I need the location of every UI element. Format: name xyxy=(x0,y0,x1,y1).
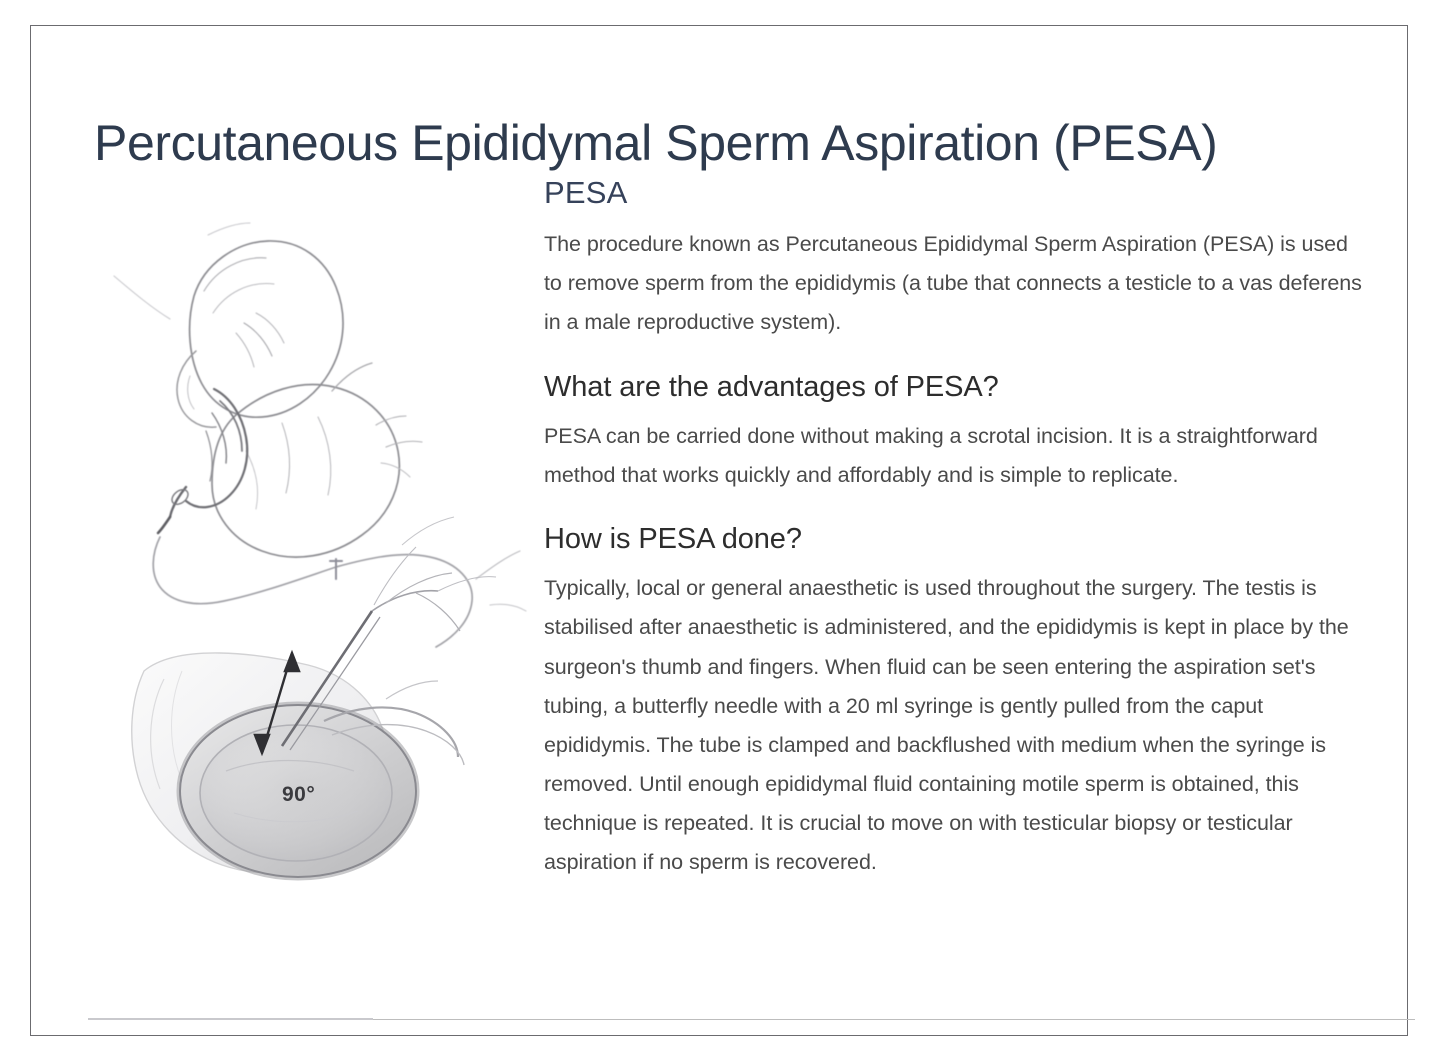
page-title: Percutaneous Epididymal Sperm Aspiration… xyxy=(94,116,1374,171)
article-text-column: PESA The procedure known as Percutaneous… xyxy=(544,174,1369,888)
section-heading-advantages: What are the advantages of PESA? xyxy=(544,369,1369,405)
intro-paragraph: The procedure known as Percutaneous Epid… xyxy=(544,225,1369,342)
section-heading-procedure: How is PESA done? xyxy=(544,521,1369,557)
angle-label: 90° xyxy=(282,783,315,806)
testis-cross-section-group: 90° xyxy=(132,517,496,877)
section-subtitle-pesa: PESA xyxy=(544,174,1369,211)
pesa-procedure-illustration: 90° xyxy=(86,201,541,991)
footer-divider-accent xyxy=(88,1018,373,1020)
section-paragraph-advantages: PESA can be carried done without making … xyxy=(544,417,1369,495)
page-frame: Percutaneous Epididymal Sperm Aspiration… xyxy=(30,25,1408,1036)
upper-hands-illustration-group xyxy=(114,223,526,647)
section-paragraph-procedure: Typically, local or general anaesthetic … xyxy=(544,569,1369,882)
